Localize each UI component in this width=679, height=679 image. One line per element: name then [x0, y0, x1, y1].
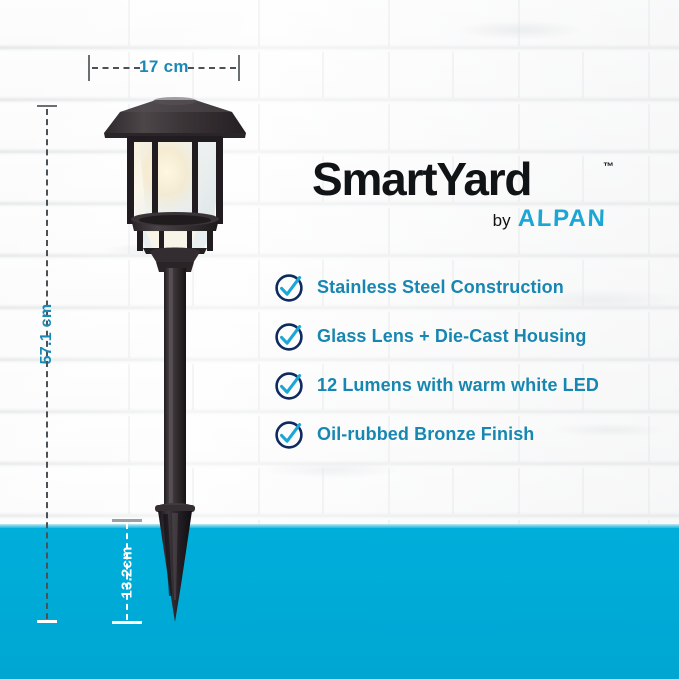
- product-infographic: 17 cm 57.1 cm 13.2cm SmartYard ™ by ALPA…: [0, 0, 679, 679]
- brand-lockup: SmartYard ™ by ALPAN: [312, 155, 612, 231]
- check-circle-icon: [274, 322, 304, 352]
- feature-label: Oil-rubbed Bronze Finish: [317, 424, 534, 445]
- check-circle-icon: [274, 273, 304, 303]
- brand-name: SmartYard: [312, 155, 612, 203]
- dimension-stake-depth: 13.2cm: [112, 519, 142, 624]
- dimension-stake-label: 13.2cm: [119, 536, 136, 610]
- dimension-stake-cap-top: [112, 519, 142, 522]
- dimension-height-label: 57.1 cm: [38, 297, 56, 371]
- feature-label: 12 Lumens with warm white LED: [317, 375, 599, 396]
- dimension-width-label: 17 cm: [88, 57, 240, 77]
- trademark-symbol: ™: [603, 161, 614, 173]
- check-circle-icon: [274, 371, 304, 401]
- list-item: 12 Lumens with warm white LED: [274, 361, 674, 410]
- feature-label: Stainless Steel Construction: [317, 277, 564, 298]
- dimension-height-cap-top: [37, 105, 57, 107]
- list-item: Glass Lens + Die-Cast Housing: [274, 312, 674, 361]
- brand-parent-lockup: by ALPAN: [493, 205, 606, 233]
- list-item: Stainless Steel Construction: [274, 263, 674, 312]
- dimension-height-cap-bottom: [37, 620, 57, 623]
- dimension-width: 17 cm: [88, 55, 240, 83]
- feature-list: Stainless Steel Construction Glass Lens …: [274, 263, 674, 459]
- list-item: Oil-rubbed Bronze Finish: [274, 410, 674, 459]
- feature-label: Glass Lens + Die-Cast Housing: [317, 326, 586, 347]
- brand-parent-name: ALPAN: [517, 205, 606, 233]
- dimension-height: 57.1 cm: [37, 105, 57, 623]
- dimension-stake-cap-bottom: [112, 621, 142, 624]
- ground-surface: [0, 528, 679, 679]
- brand-by-label: by: [493, 211, 511, 231]
- check-circle-icon: [274, 420, 304, 450]
